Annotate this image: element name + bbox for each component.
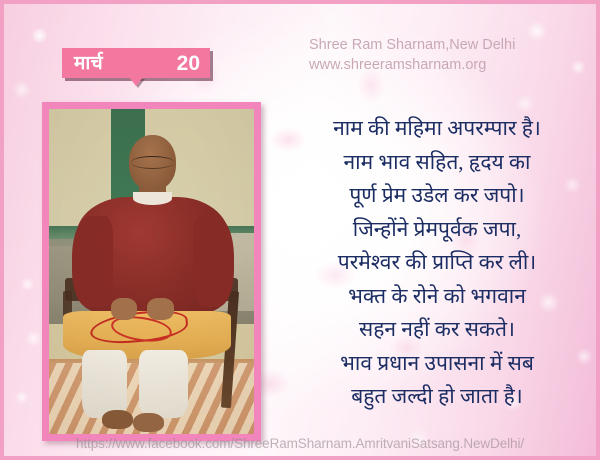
day-label: 20 [177,53,200,74]
photo-color-cast [49,109,254,434]
verse-line: बहुत जल्दी हो जाता है। [276,380,598,414]
month-label: मार्च [74,54,103,73]
daily-quote-card: मार्च 20 Shree Ram Sharnam,New Delhi www… [0,0,600,460]
organization-website: www.shreeramsharnam.org [309,56,515,76]
verse-line: भाव प्रधान उपासना में सब [276,347,598,381]
verse-text: नाम की महिमा अपरम्पार है। नाम भाव सहित, … [276,112,598,414]
verse-line: परमेश्वर की प्राप्ति कर ली। [276,246,598,280]
date-banner: मार्च 20 [62,48,210,78]
facebook-url[interactable]: https://www.facebook.com/ShreeRamSharnam… [4,436,596,451]
verse-line: जिन्होंने प्रेमपूर्वक जपा, [276,213,598,247]
photo-frame [42,102,261,441]
verse-line: नाम की महिमा अपरम्पार है। [276,112,598,146]
verse-line: नाम भाव सहित, हृदय का [276,146,598,180]
organization-header: Shree Ram Sharnam,New Delhi www.shreeram… [309,36,515,75]
organization-name: Shree Ram Sharnam,New Delhi [309,36,515,56]
banner-notch-icon [129,77,143,86]
verse-line: सहन नहीं कर सकते। [276,313,598,347]
verse-line: भक्त के रोने को भगवान [276,280,598,314]
saint-photograph [49,109,254,434]
verse-line: पूर्ण प्रेम उडेल कर जपो। [276,179,598,213]
